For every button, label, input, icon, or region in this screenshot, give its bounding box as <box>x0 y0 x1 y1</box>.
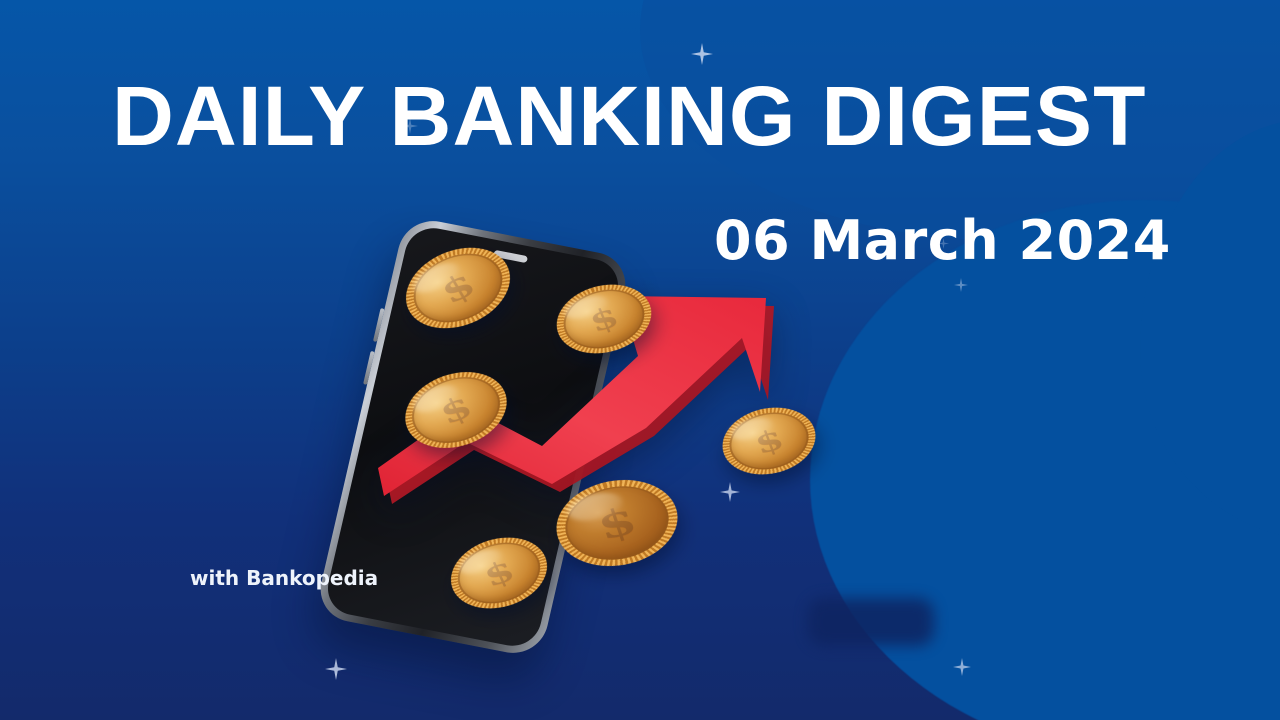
banner-poster: $$$$$$ DAILY BANKING DIGEST 06 March 202… <box>0 0 1280 720</box>
page-title: DAILY BANKING DIGEST <box>112 74 1214 158</box>
date-label: 06 March 2024 <box>714 210 1171 272</box>
byline-label: with Bankopedia <box>190 566 378 590</box>
phone-volume-down-button <box>363 351 375 385</box>
background-shadow-rect <box>808 598 934 646</box>
